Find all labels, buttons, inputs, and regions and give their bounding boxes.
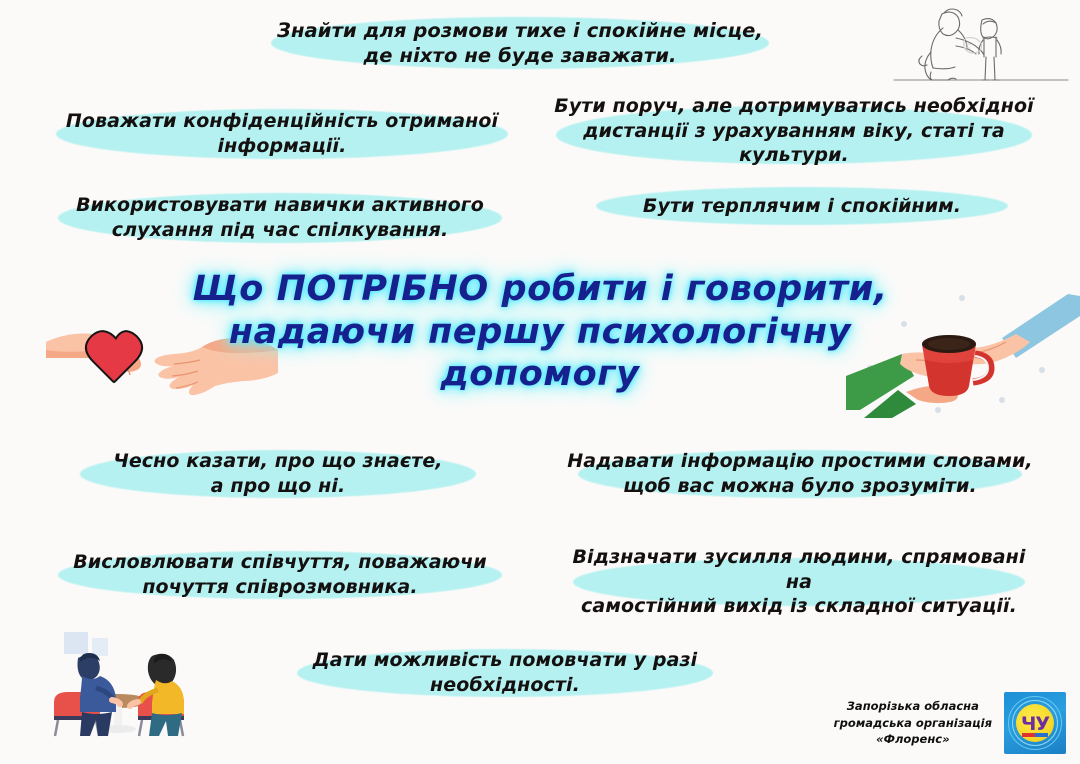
statement-text: Бути терплячим і спокійним.: [592, 194, 1012, 219]
statement-text: Надавати інформацію простими словами, що…: [562, 449, 1038, 498]
footer: Запорізька обласна громадська організаці…: [834, 692, 1066, 754]
infographic-poster: Знайти для розмови тихе і спокійне місце…: [0, 0, 1080, 764]
statement-text: Використовувати навички активного слухан…: [54, 193, 506, 242]
statement-quiet-place: Знайти для розмови тихе і спокійне місце…: [262, 18, 778, 69]
statement-allow-silence: Дати можливість помовчати у разі необхід…: [286, 648, 724, 697]
organization-name: Запорізька обласна громадська організаці…: [834, 698, 992, 748]
statement-text: Бути поруч, але дотримуватись необхідної…: [538, 94, 1050, 168]
statement-text: Дати можливість помовчати у разі необхід…: [286, 648, 724, 697]
statement-confidentiality: Поважати конфіденційність отриманої інфо…: [52, 109, 512, 158]
statement-text: Висловлювати співчуття, поважаючи почутт…: [54, 550, 506, 599]
heart-shape: [87, 332, 141, 381]
right-hand: [155, 338, 279, 395]
statement-text: Знайти для розмови тихе і спокійне місце…: [262, 18, 778, 69]
statement-simple-words: Надавати інформацію простими словами, що…: [562, 449, 1038, 498]
hands-giving-heart-illustration: [44, 300, 280, 406]
statement-acknowledge-efforts: Відзначати зусилля людини, спрямовані на…: [558, 545, 1040, 619]
statement-text: Поважати конфіденційність отриманої інфо…: [52, 109, 512, 158]
adult-crouching-with-child-sketch: [886, 2, 1076, 88]
hands-offering-coffee-cup-illustration: [846, 282, 1080, 418]
two-people-talking-at-table-illustration: [34, 622, 230, 740]
statement-keep-distance: Бути поруч, але дотримуватись необхідної…: [538, 94, 1050, 168]
statement-show-empathy: Висловлювати співчуття, поважаючи почутт…: [54, 550, 506, 599]
statement-active-listening: Використовувати навички активного слухан…: [54, 193, 506, 242]
logo-monogram: ЧУ: [1021, 713, 1049, 735]
statement-text: Чесно казати, про що знаєте, а про що ні…: [78, 449, 478, 498]
logo-color-bar: [1022, 733, 1048, 737]
statement-text: Відзначати зусилля людини, спрямовані на…: [558, 545, 1040, 619]
coffee-cup: [922, 335, 991, 396]
statement-be-honest: Чесно казати, про що знаєте, а про що ні…: [78, 449, 478, 498]
florens-organization-logo: ЧУ: [1004, 692, 1066, 754]
statement-be-patient: Бути терплячим і спокійним.: [592, 194, 1012, 219]
